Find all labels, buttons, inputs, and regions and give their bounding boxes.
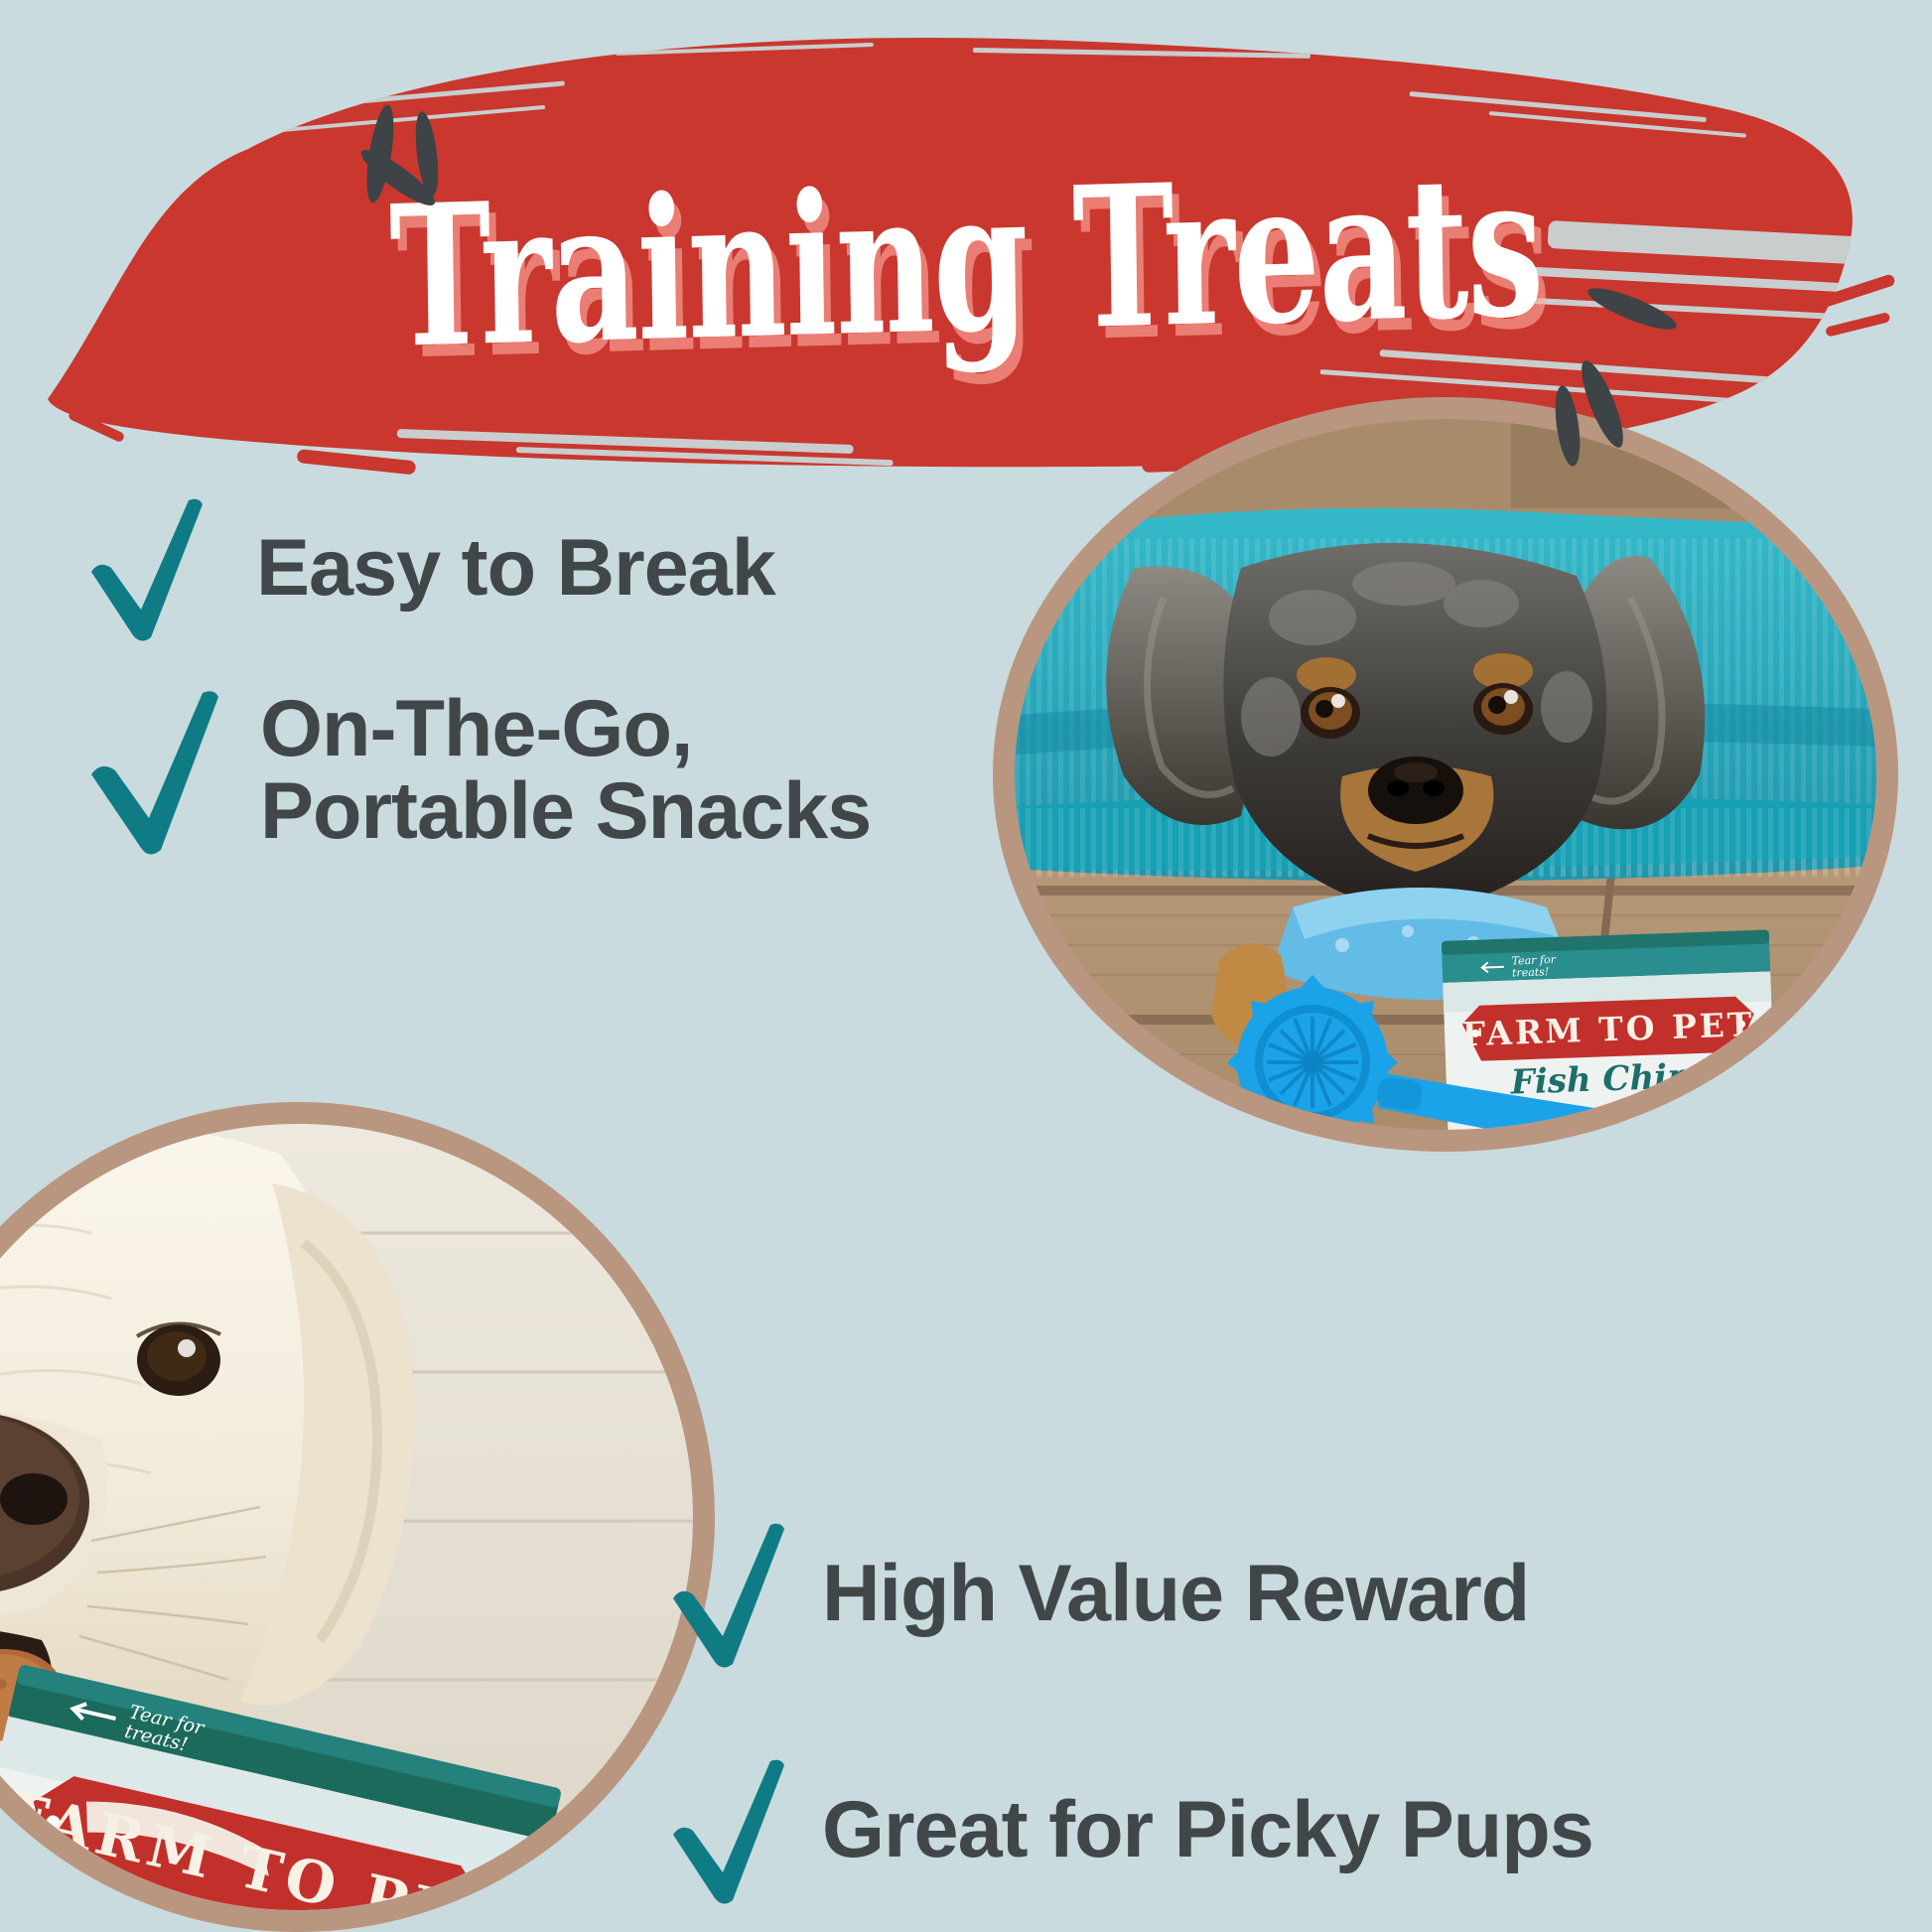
checkmark-icon bbox=[667, 1519, 794, 1670]
checkmark-icon bbox=[667, 1755, 794, 1906]
benefit-label: High Value Reward bbox=[822, 1553, 1529, 1635]
benefit-label: Great for Picky Pups bbox=[822, 1789, 1593, 1871]
checkmark-icon bbox=[85, 685, 230, 856]
sparkle-dash-icon bbox=[1574, 356, 1630, 452]
benefit-item-on-the-go: On-The-Go, Portable Snacks bbox=[85, 685, 871, 856]
dachshund-photo: Tear for treats! FARM TO PET Fish Chips bbox=[1015, 419, 1876, 1130]
golden-retriever-photo-frame: Tear for treats! FARM TO PET bbox=[0, 1102, 715, 1932]
checkmark-icon bbox=[85, 494, 212, 643]
golden-retriever-photo: Tear for treats! FARM TO PET bbox=[0, 1124, 693, 1910]
svg-text:Fish Chips: Fish Chips bbox=[1509, 1056, 1711, 1103]
svg-text:treats!: treats! bbox=[1512, 965, 1550, 979]
sparkle-dash-icon bbox=[1584, 281, 1680, 337]
benefit-item-high-value-reward: High Value Reward bbox=[667, 1519, 1529, 1670]
benefit-item-great-for-picky-pups: Great for Picky Pups bbox=[667, 1755, 1593, 1906]
benefit-label: On-The-Go, Portable Snacks bbox=[260, 688, 871, 854]
benefit-label: Easy to Break bbox=[256, 527, 775, 610]
benefit-item-easy-to-break: Easy to Break bbox=[85, 494, 775, 643]
header-banner: Training Treats bbox=[0, 0, 1932, 516]
poster-canvas: Training Treats bbox=[0, 0, 1932, 1932]
sparkle-dash-icon bbox=[1551, 384, 1584, 468]
sparkle-dash-marks-right bbox=[0, 0, 1932, 516]
